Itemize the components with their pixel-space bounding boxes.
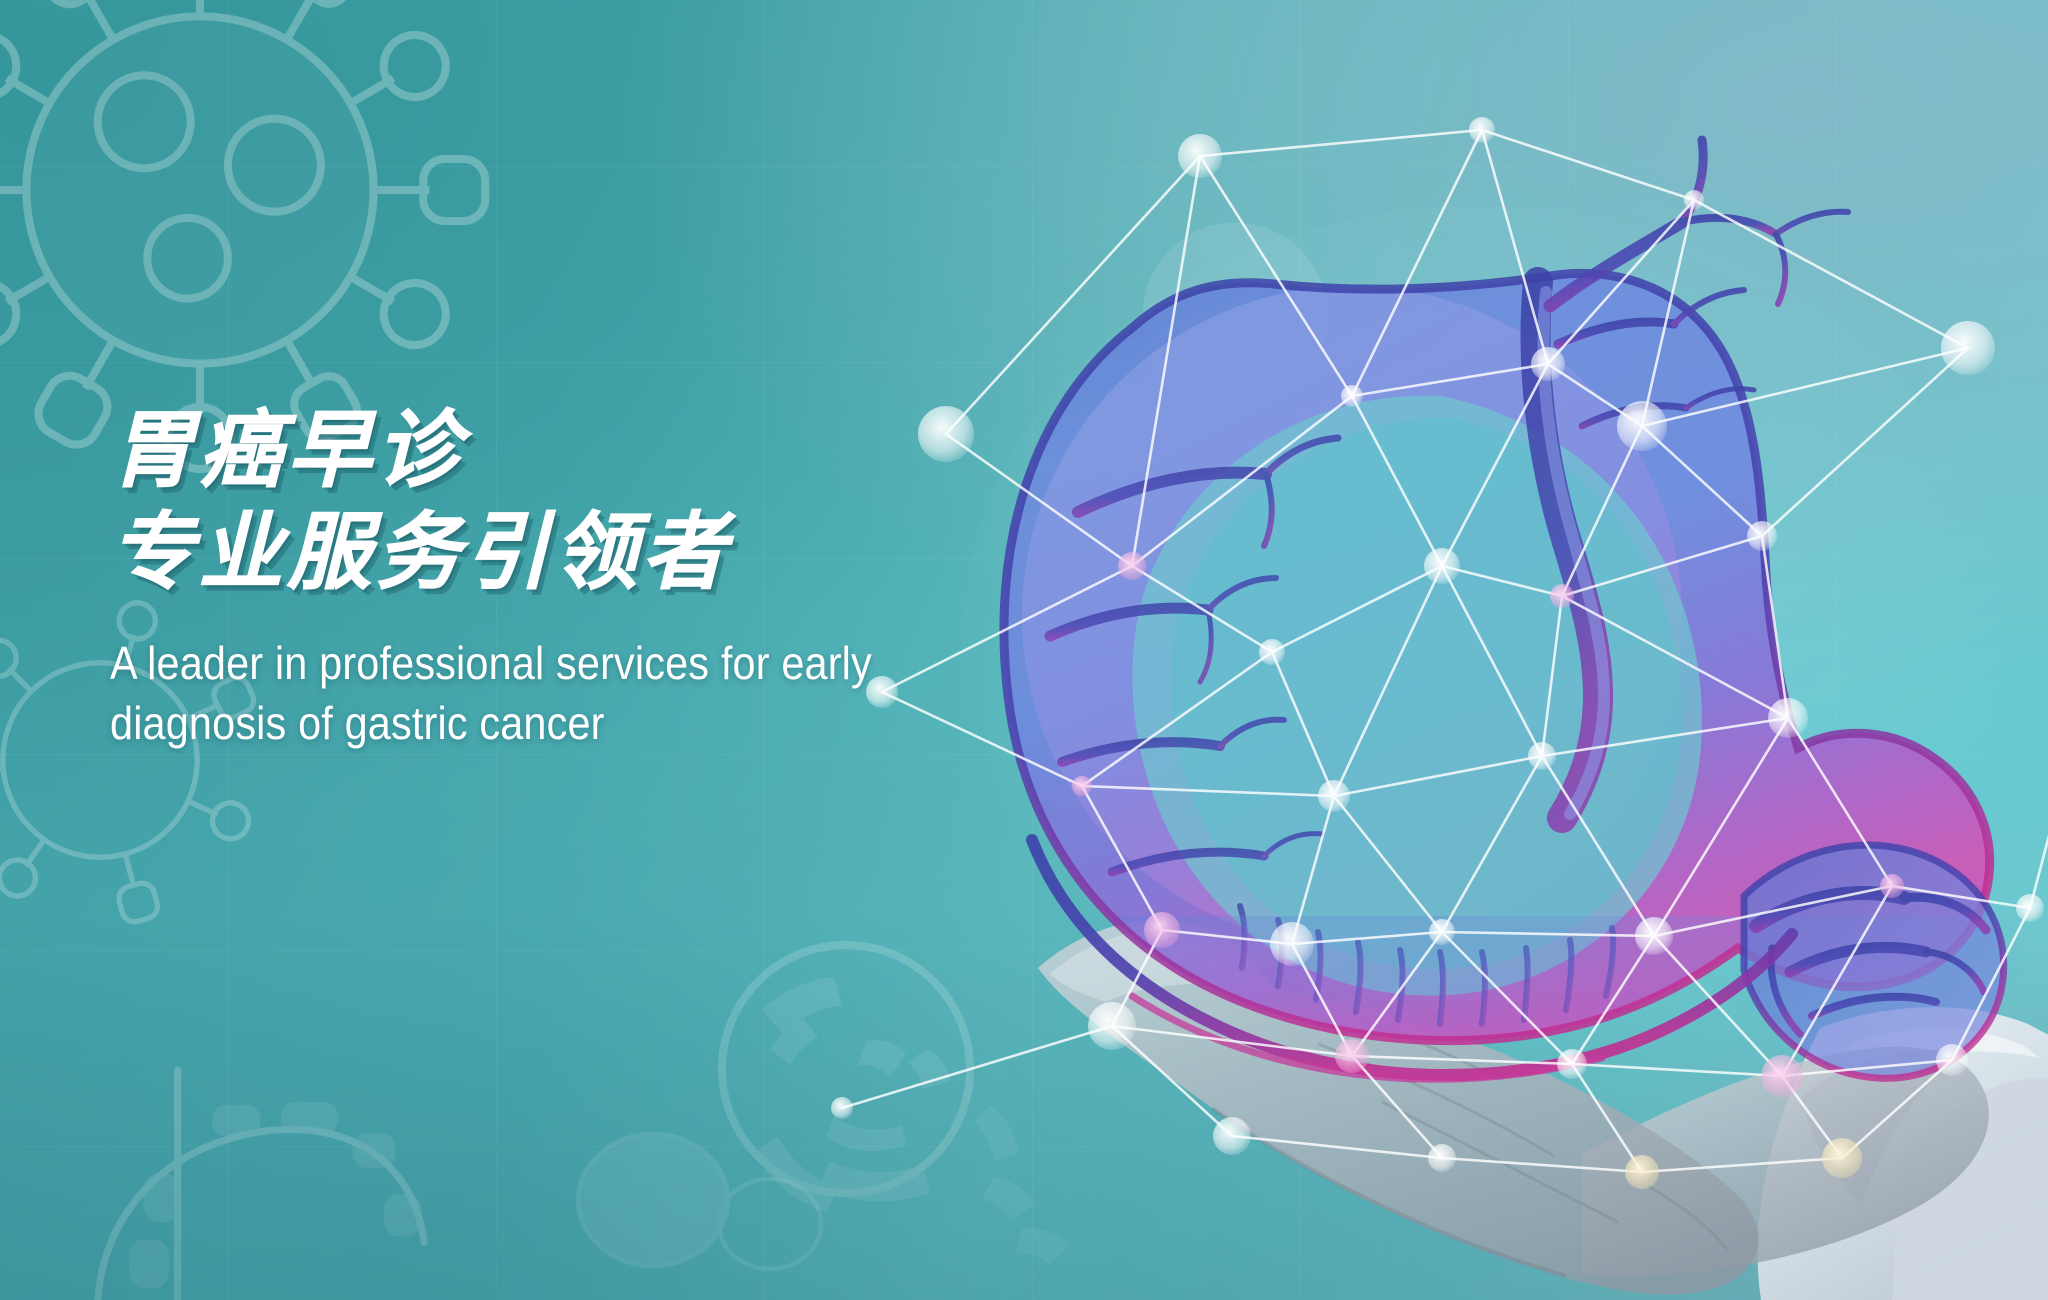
- headline-block: 胃癌早诊 专业服务引领者 A leader in professional se…: [110, 408, 1170, 754]
- subtitle-line-2: diagnosis of gastric cancer: [110, 694, 1064, 754]
- subtitle-line-1: A leader in professional services for ea…: [110, 634, 1064, 694]
- headline-line-2: 专业服务引领者: [110, 510, 1170, 594]
- banner-root: 胃癌早诊 专业服务引领者 A leader in professional se…: [0, 0, 2048, 1300]
- headline-line-1: 胃癌早诊: [110, 408, 1170, 492]
- subtitle-block: A leader in professional services for ea…: [110, 634, 1064, 754]
